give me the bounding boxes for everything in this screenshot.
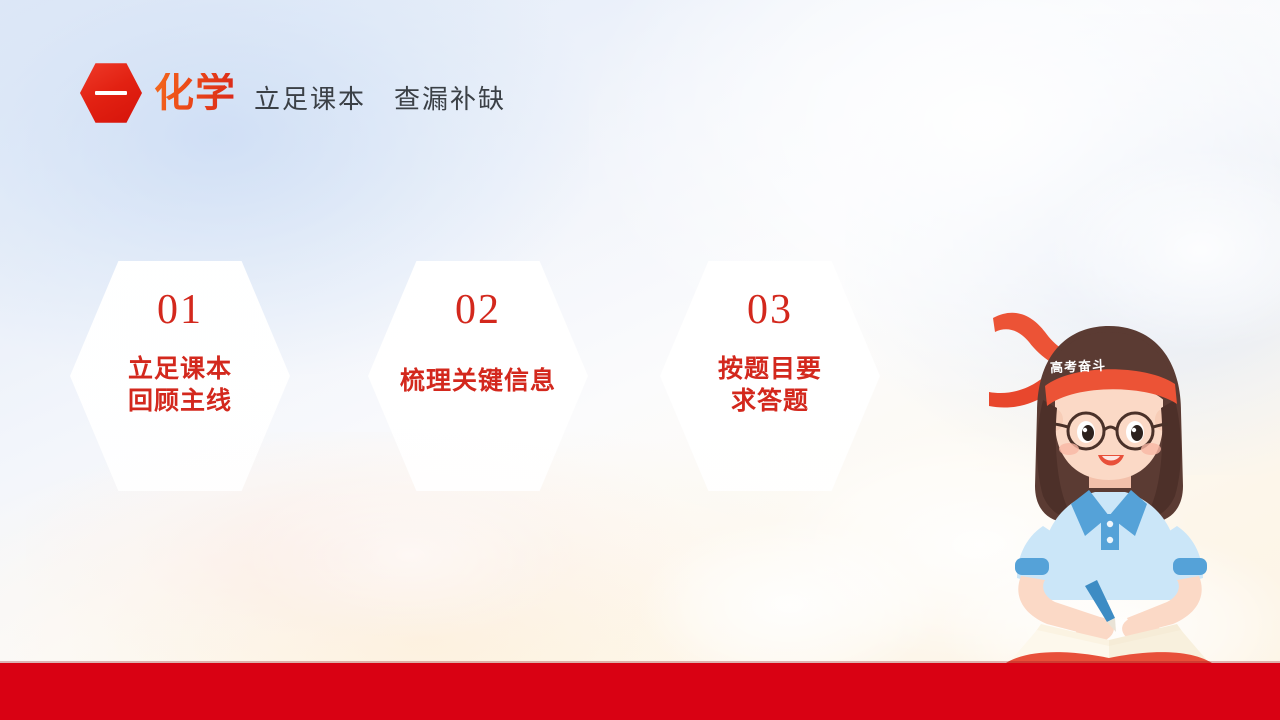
hexagon-card-01[interactable]: 01 立足课本回顾主线 xyxy=(70,261,290,491)
presentation-slide: 化学 立足课本 查漏补缺 01 立足课本回顾主线 02 梳理关键信息 03 按题… xyxy=(0,0,1280,720)
slide-header: 化学 立足课本 查漏补缺 xyxy=(80,60,506,126)
page-subtitle: 立足课本 查漏补缺 xyxy=(254,79,506,116)
hexagon-one-stroke xyxy=(95,91,127,96)
hexagon-card-03[interactable]: 03 按题目要求答题 xyxy=(660,261,880,491)
card-label: 立足课本回顾主线 xyxy=(116,353,244,417)
card-number: 01 xyxy=(157,289,203,331)
card-label: 按题目要求答题 xyxy=(706,353,834,417)
hexagon-card-02[interactable]: 02 梳理关键信息 xyxy=(368,261,588,491)
card-label: 梳理关键信息 xyxy=(400,365,556,397)
bottom-accent-bar xyxy=(0,663,1280,720)
page-title: 化学 xyxy=(154,73,236,113)
hexagon-card-row: 01 立足课本回顾主线 02 梳理关键信息 03 按题目要求答题 xyxy=(70,261,950,491)
card-number: 03 xyxy=(747,289,793,331)
hexagon-number-one-icon xyxy=(80,62,142,124)
card-number: 02 xyxy=(455,289,501,331)
studying-girl-illustration xyxy=(985,300,1235,665)
